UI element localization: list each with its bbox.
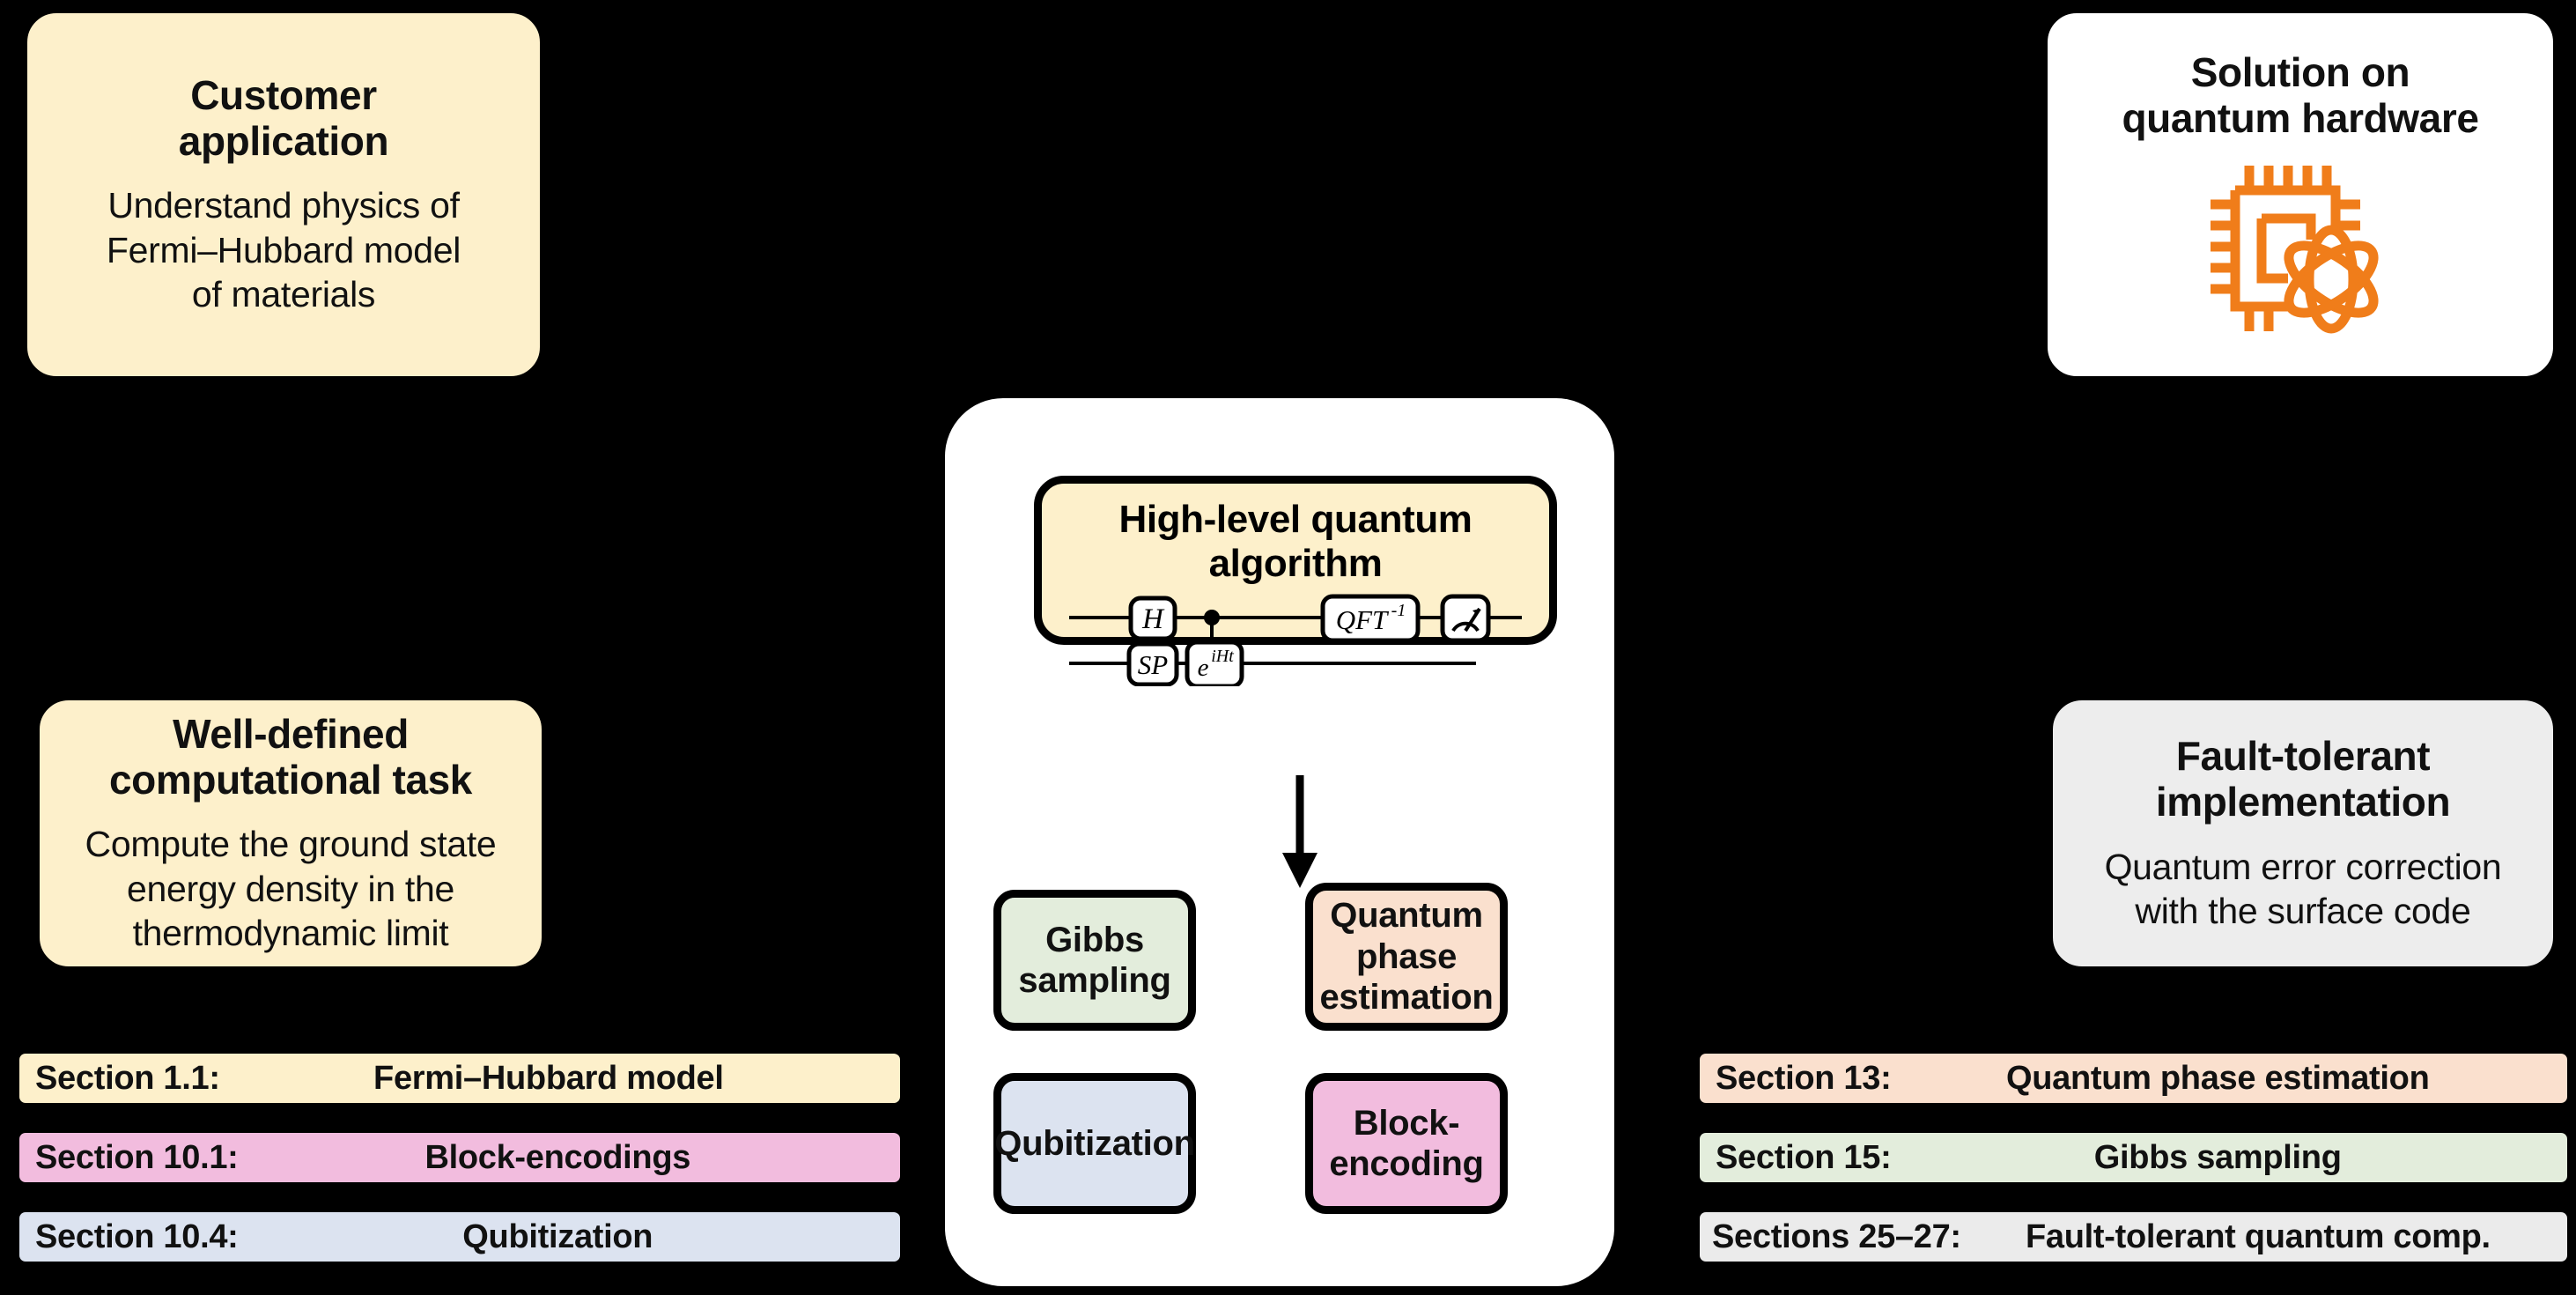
quantum-circuit-diagram: H QFT -1 SP [1062,591,1529,691]
section-bar-left-3[interactable]: Section 10.4: Qubitization [19,1212,900,1262]
algorithm-title-line1: High-level quantum [1118,498,1472,542]
section-bar-right-3[interactable]: Sections 25–27: Fault-tolerant quantum c… [1700,1212,2567,1262]
section-bar-right-2-number: Section 15: [1700,1139,1891,1177]
svg-text:iHt: iHt [1211,647,1234,666]
primitive-qubitization: Qubitization [993,1073,1196,1214]
svg-text:e: e [1198,654,1209,682]
fault-tolerant-subtitle: Quantum error correction with the surfac… [2105,845,2502,933]
prim-qpe-line3: estimation [1319,977,1493,1017]
gate-state-preparation: SP [1129,644,1177,684]
computational-task-subtitle: Compute the ground state energy density … [85,822,497,954]
prim-gibbs-line2: sampling [1018,960,1170,1001]
customer-application-subtitle-line3: of materials [107,272,461,316]
computational-task-title: Well-defined computational task [109,712,472,803]
section-bar-left-3-name: Qubitization [239,1218,900,1256]
svg-text:QFT: QFT [1336,604,1390,635]
card-computational-task: Well-defined computational task Compute … [32,692,550,974]
card-fault-tolerant-implementation: Fault-tolerant implementation Quantum er… [2045,692,2561,974]
section-bar-right-1-name: Quantum phase estimation [1891,1060,2567,1098]
gate-measurement-meter-icon [1443,596,1488,640]
solution-hardware-title-line2: quantum hardware [2122,96,2478,142]
section-bar-left-2[interactable]: Section 10.1: Block-encodings [19,1133,900,1182]
section-bar-right-2-name: Gibbs sampling [1891,1139,2567,1177]
computational-task-title-line2: computational task [109,758,472,803]
customer-application-subtitle: Understand physics of Fermi–Hubbard mode… [107,183,461,315]
section-bar-left-2-number: Section 10.1: [19,1139,239,1177]
customer-application-title-line2: application [179,119,388,165]
gate-hadamard: H [1131,598,1175,639]
customer-application-subtitle-line1: Understand physics of [107,183,461,227]
customer-application-title: Customer application [179,73,388,164]
prim-block-line1: Block- [1329,1103,1483,1143]
down-arrow-icon [1273,775,1326,890]
fault-tolerant-title-line1: Fault-tolerant [2156,734,2450,780]
card-solution-on-quantum-hardware: Solution on quantum hardware [2040,5,2561,384]
card-customer-application: Customer application Understand physics … [19,5,548,384]
section-bar-right-3-number: Sections 25–27: [1700,1218,1961,1256]
prim-block-line2: encoding [1329,1143,1483,1184]
prim-qpe-line2: phase [1319,936,1493,977]
primitive-gibbs-sampling: Gibbs sampling [993,890,1196,1031]
fault-tolerant-subtitle-line2: with the surface code [2105,889,2502,933]
computational-task-subtitle-line2: energy density in the [85,867,497,911]
section-bar-right-2[interactable]: Section 15: Gibbs sampling [1700,1133,2567,1182]
primitive-block-encoding: Block- encoding [1305,1073,1508,1214]
section-bar-left-1-name: Fermi–Hubbard model [220,1060,900,1098]
solution-hardware-title-line1: Solution on [2122,50,2478,96]
primitive-quantum-phase-estimation: Quantum phase estimation [1305,883,1508,1031]
gate-time-evolution: e iHt [1187,642,1242,686]
diagram-canvas: Customer application Understand physics … [0,0,2576,1295]
gate-qft-inverse: QFT -1 [1323,596,1418,640]
section-bar-left-2-name: Block-encodings [239,1139,900,1177]
customer-application-subtitle-line2: Fermi–Hubbard model [107,228,461,272]
algorithm-title: High-level quantum algorithm [1118,498,1472,586]
quantum-chip-atom-icon [2203,159,2397,339]
section-bar-right-1[interactable]: Section 13: Quantum phase estimation [1700,1054,2567,1103]
fault-tolerant-subtitle-line1: Quantum error correction [2105,845,2502,889]
card-high-level-quantum-algorithm: High-level quantum algorithm H [1034,476,1557,645]
computational-task-title-line1: Well-defined [109,712,472,758]
section-bar-left-1-number: Section 1.1: [19,1060,220,1098]
prim-qubitization-label: Qubitization [994,1123,1194,1164]
prim-qpe-line1: Quantum [1319,895,1493,936]
computational-task-subtitle-line1: Compute the ground state [85,822,497,866]
svg-text:SP: SP [1138,649,1169,680]
control-dot-icon [1204,610,1220,625]
section-bar-left-1[interactable]: Section 1.1: Fermi–Hubbard model [19,1054,900,1103]
algorithm-title-line2: algorithm [1118,542,1472,586]
section-bar-left-3-number: Section 10.4: [19,1218,239,1256]
solution-hardware-title: Solution on quantum hardware [2122,50,2478,141]
section-bar-right-3-name: Fault-tolerant quantum comp. [1961,1218,2567,1256]
svg-text:-1: -1 [1391,601,1406,620]
fault-tolerant-title: Fault-tolerant implementation [2156,734,2450,825]
customer-application-title-line1: Customer [179,73,388,119]
computational-task-subtitle-line3: thermodynamic limit [85,911,497,955]
section-bar-right-1-number: Section 13: [1700,1060,1891,1098]
fault-tolerant-title-line2: implementation [2156,780,2450,825]
svg-text:H: H [1141,603,1165,635]
prim-gibbs-line1: Gibbs [1018,920,1170,960]
